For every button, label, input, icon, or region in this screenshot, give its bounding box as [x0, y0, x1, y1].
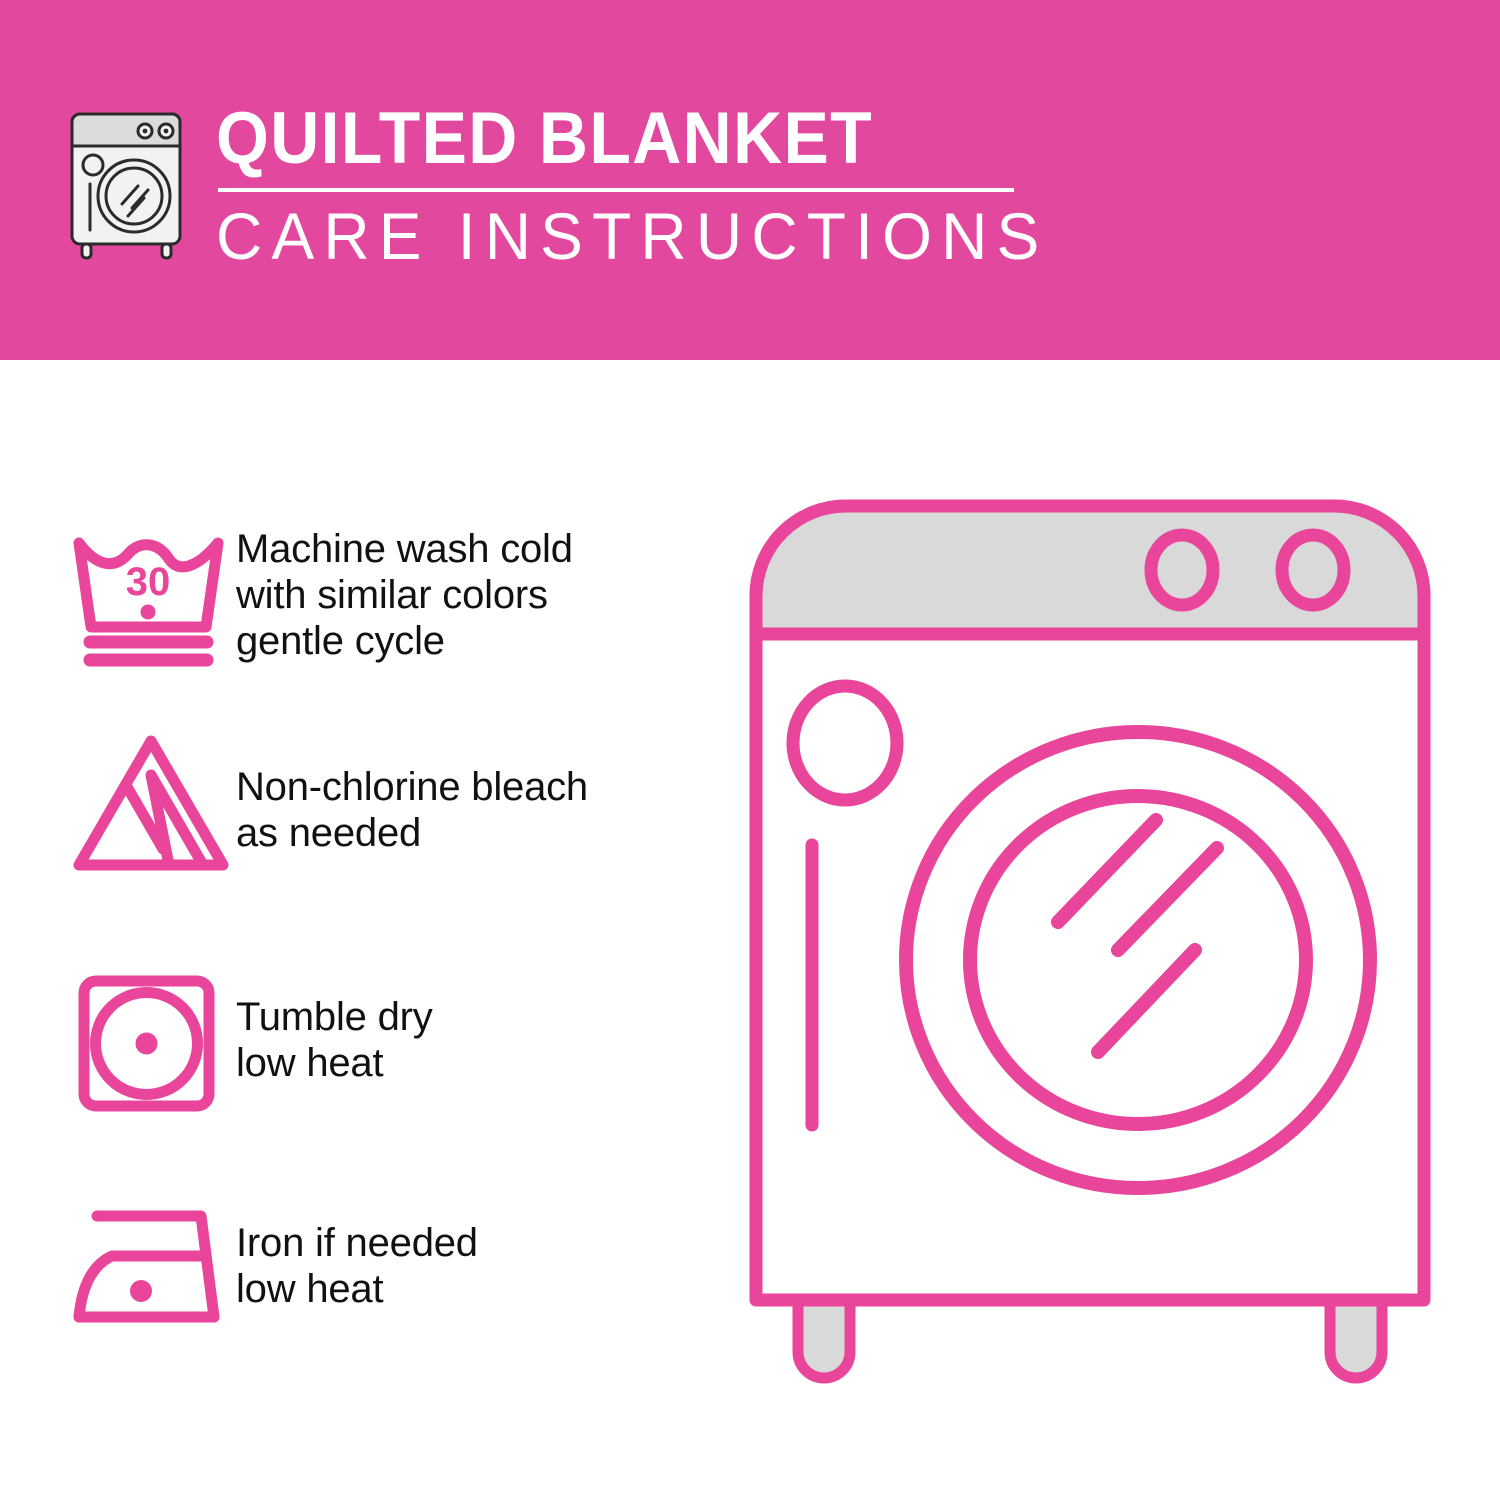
tumble-dry-low-heat-icon: [66, 968, 236, 1118]
list-item-label: Tumble dry low heat: [236, 968, 433, 1086]
wash-tub-30-gentle-icon: 30: [66, 520, 236, 670]
machine-knob-left: [1151, 535, 1213, 605]
header-band: QUILTED BLANKET CARE INSTRUCTIONS: [0, 0, 1500, 360]
machine-knob-right: [1282, 535, 1344, 605]
list-item: Non-chlorine bleach as needed: [66, 728, 706, 878]
title-divider: [218, 188, 1014, 192]
list-item-label: Machine wash cold with similar colors ge…: [236, 520, 573, 664]
washing-machine-icon: [66, 108, 192, 260]
list-item: Tumble dry low heat: [66, 968, 706, 1118]
list-item-label: Non-chlorine bleach as needed: [236, 728, 588, 856]
header-text-block: QUILTED BLANKET CARE INSTRUCTIONS: [216, 100, 1016, 272]
iron-low-heat-icon: [66, 1192, 236, 1342]
list-item-label: Iron if needed low heat: [236, 1192, 478, 1312]
non-chlorine-bleach-triangle-icon: [66, 728, 236, 878]
list-item: 30 Machine wash cold with similar colors…: [66, 520, 706, 670]
page-title: QUILTED BLANKET: [216, 100, 960, 178]
list-item: Iron if needed low heat: [66, 1192, 706, 1342]
care-instruction-list: 30 Machine wash cold with similar colors…: [0, 360, 740, 1500]
page-subtitle: CARE INSTRUCTIONS: [216, 200, 992, 272]
wash-temperature-value: 30: [126, 560, 171, 604]
large-washing-machine-illustration: [740, 490, 1440, 1420]
care-label-canvas: QUILTED BLANKET CARE INSTRUCTIONS 30: [0, 0, 1500, 1500]
